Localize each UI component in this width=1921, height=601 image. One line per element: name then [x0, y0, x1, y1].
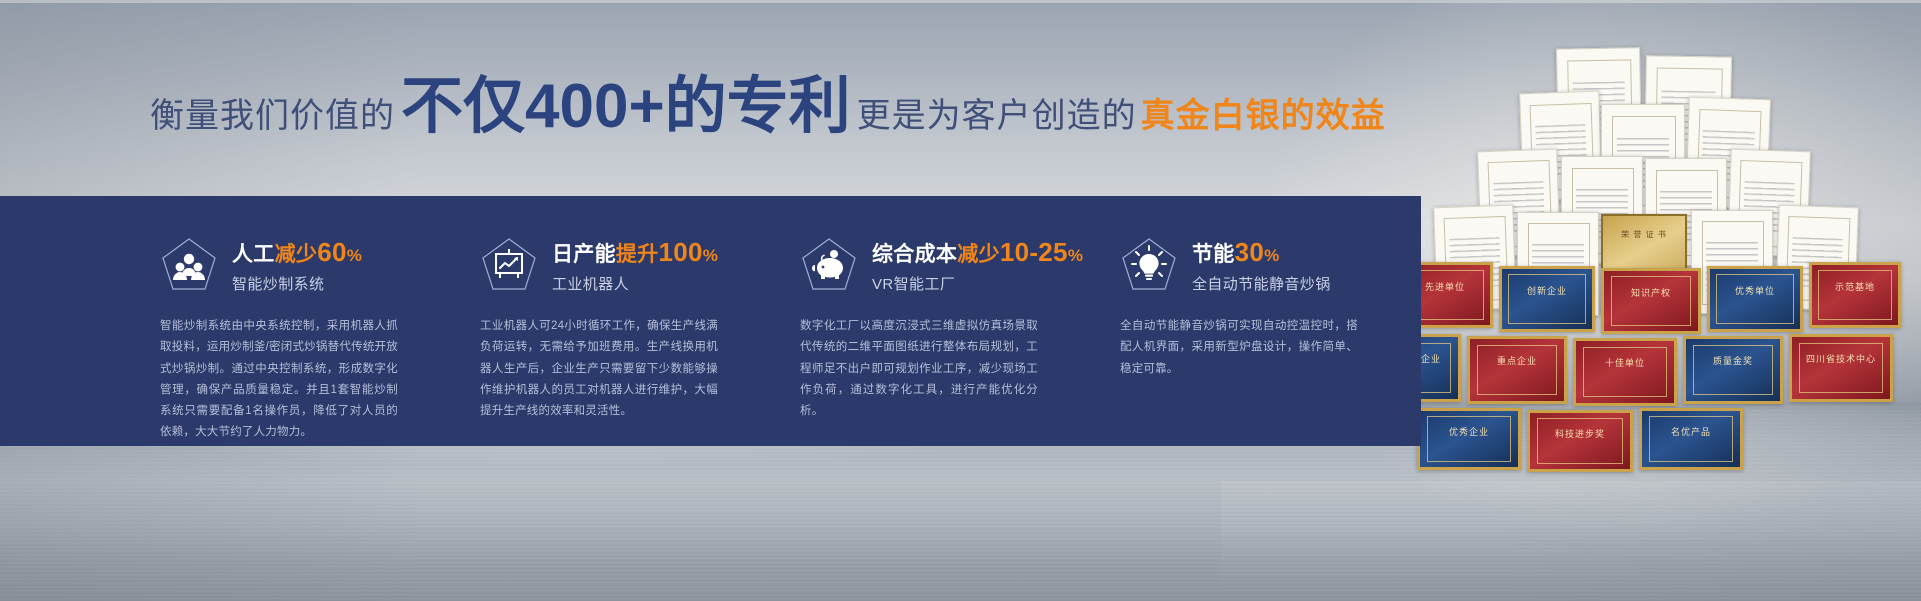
feature-title-highlight: 减少	[957, 243, 1000, 266]
feature-panel: 人工减少60% 智能炒制系统 智能炒制系统由中央系统控制，采用机器人抓取投料，运…	[0, 196, 1421, 446]
feature-title-number: 100	[659, 237, 703, 267]
feature-header: 综合成本减少10-25% VR智能工厂	[800, 236, 1058, 294]
headline-lead: 衡量我们价值的	[150, 88, 395, 137]
feature-title-number: 10-25	[1000, 237, 1068, 267]
feature-list: 人工减少60% 智能炒制系统 智能炒制系统由中央系统控制，采用机器人抓取投料，运…	[160, 196, 1421, 446]
feature-text-column: 综合成本减少10-25% VR智能工厂	[872, 236, 1083, 294]
headline-middle: 更是为客户创造的	[857, 88, 1137, 137]
certificate-plaque: 优秀企业	[1417, 408, 1521, 470]
feature-title-prefix: 日产能	[552, 243, 616, 266]
feature-header: 日产能提升100% 工业机器人	[480, 236, 738, 294]
feature-title-highlight: 减少	[275, 243, 318, 266]
feature-title-prefix: 综合成本	[872, 243, 957, 266]
feature-subtitle: 工业机器人	[552, 273, 718, 294]
feature-item: 节能30% 全自动节能静音炒锅 全自动节能静音炒锅可实现自动控温控时，搭配人机界…	[1120, 196, 1378, 446]
people-group-icon	[160, 236, 218, 294]
feature-item: 综合成本减少10-25% VR智能工厂 数字化工厂以高度沉浸式三维虚拟仿真场景取…	[800, 196, 1058, 446]
certificate-plaque: 质量金奖	[1683, 336, 1783, 404]
feature-body: 全自动节能静音炒锅可实现自动控温控时，搭配人机界面，采用新型炉盘设计，操作简单、…	[1120, 316, 1358, 380]
floor-reflection	[1221, 481, 1921, 601]
headline-accent: 真金白银的效益	[1141, 88, 1386, 137]
feature-title-prefix: 人工	[232, 243, 275, 266]
feature-item: 日产能提升100% 工业机器人 工业机器人可24小时循环工作，确保生产线满负荷运…	[480, 196, 738, 446]
feature-title-percent: %	[347, 246, 362, 265]
feature-title-percent: %	[1264, 246, 1279, 265]
feature-body: 工业机器人可24小时循环工作，确保生产线满负荷运转，无需给予加班费用。生产线换用…	[480, 316, 718, 422]
feature-text-column: 人工减少60% 智能炒制系统	[232, 236, 362, 294]
banner-stage: 荣 誉 证 书 先进单位 创新企业 知识产权 优秀单位 示范基地 高新技术企业 …	[0, 0, 1921, 601]
certificate-plaque: 创新企业	[1499, 266, 1595, 332]
piggy-bank-icon	[800, 236, 858, 294]
certificate-plaque: 知识产权	[1601, 268, 1701, 334]
headline-emphasis: 不仅400+的专利	[401, 76, 851, 138]
feature-text-column: 日产能提升100% 工业机器人	[552, 236, 718, 294]
feature-title-number: 30	[1235, 237, 1265, 267]
feature-title-percent: %	[1068, 246, 1083, 265]
feature-title-prefix: 节能	[1192, 243, 1235, 266]
feature-title-highlight: 提升	[616, 243, 659, 266]
chart-board-icon	[480, 236, 538, 294]
feature-title: 综合成本减少10-25%	[872, 238, 1083, 268]
certificate-plaque: 科技进步奖	[1527, 410, 1633, 472]
feature-title: 节能30%	[1192, 238, 1331, 268]
feature-header: 节能30% 全自动节能静音炒锅	[1120, 236, 1378, 294]
feature-title: 人工减少60%	[232, 238, 362, 268]
certificate-plaque: 十佳单位	[1573, 338, 1677, 406]
feature-title-number: 60	[317, 237, 347, 267]
feature-body: 数字化工厂以高度沉浸式三维虚拟仿真场景取代传统的二维平面图纸进行整体布局规划，工…	[800, 316, 1038, 422]
feature-subtitle: VR智能工厂	[872, 273, 1083, 294]
certificate-plaque: 四川省技术中心	[1789, 334, 1893, 402]
feature-text-column: 节能30% 全自动节能静音炒锅	[1192, 236, 1331, 294]
certificate-plaque: 示范基地	[1809, 262, 1901, 328]
certificate-plaque: 名优产品	[1639, 408, 1743, 470]
feature-title-percent: %	[703, 246, 718, 265]
certificate-plaque: 优秀单位	[1707, 266, 1803, 332]
feature-item: 人工减少60% 智能炒制系统 智能炒制系统由中央系统控制，采用机器人抓取投料，运…	[160, 196, 418, 446]
certificate-plaque: 重点企业	[1467, 336, 1567, 404]
feature-subtitle: 智能炒制系统	[232, 273, 362, 294]
feature-title: 日产能提升100%	[552, 238, 718, 268]
feature-body: 智能炒制系统由中央系统控制，采用机器人抓取投料，运用炒制釜/密闭式炒锅替代传统开…	[160, 316, 398, 444]
lightbulb-icon	[1120, 236, 1178, 294]
feature-subtitle: 全自动节能静音炒锅	[1192, 273, 1331, 294]
headline: 衡量我们价值的 不仅400+的专利 更是为客户创造的 真金白银的效益	[150, 76, 1386, 138]
feature-header: 人工减少60% 智能炒制系统	[160, 236, 418, 294]
